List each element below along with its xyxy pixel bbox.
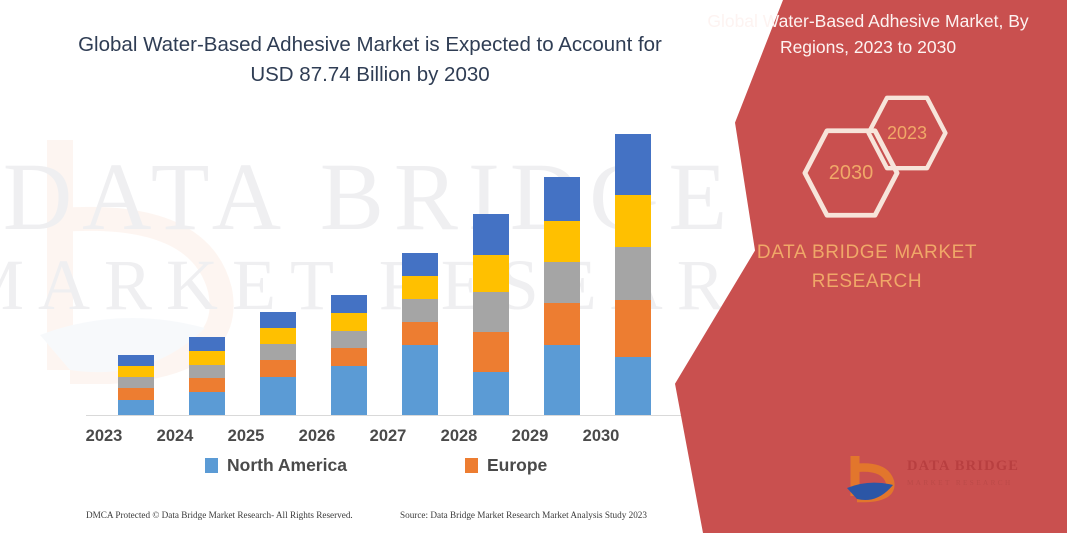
bar-segment-2025-europe	[260, 360, 296, 377]
bar-segment-2028-north-america	[473, 372, 509, 415]
bar-segment-2028-series-5	[473, 214, 509, 255]
chart-legend: North AmericaEurope	[100, 455, 680, 481]
bar-segment-2024-europe	[189, 378, 225, 392]
bar-2025	[260, 312, 296, 415]
bar-segment-2025-series-5	[260, 312, 296, 328]
x-axis-label-2025: 2025	[216, 427, 276, 446]
bar-2024	[189, 337, 225, 415]
x-axis-label-2026: 2026	[287, 427, 347, 446]
bar-segment-2029-series-4	[544, 221, 580, 262]
bar-segment-2030-series-3	[615, 247, 651, 300]
bar-segment-2023-series-5	[118, 355, 154, 366]
bar-segment-2024-series-3	[189, 365, 225, 378]
x-axis-label-2023: 2023	[74, 427, 134, 446]
bar-segment-2030-series-5	[615, 134, 651, 195]
legend-swatch-icon	[205, 458, 218, 473]
footer-source-text: Source: Data Bridge Market Research Mark…	[400, 510, 647, 520]
bar-segment-2027-series-3	[402, 299, 438, 322]
bar-segment-2028-series-4	[473, 255, 509, 292]
bar-segment-2025-series-4	[260, 328, 296, 344]
x-axis-label-2029: 2029	[500, 427, 560, 446]
bar-2023	[118, 355, 154, 415]
legend-label: Europe	[487, 455, 547, 476]
bar-segment-2026-series-4	[331, 313, 367, 331]
hexagon-badge-2023-label: 2023	[867, 93, 947, 173]
bar-segment-2026-europe	[331, 348, 367, 366]
bar-segment-2024-north-america	[189, 392, 225, 415]
bar-segment-2029-series-5	[544, 177, 580, 221]
bar-segment-2024-series-5	[189, 337, 225, 351]
bar-segment-2030-series-4	[615, 195, 651, 247]
bar-segment-2026-series-3	[331, 331, 367, 348]
bar-2029	[544, 177, 580, 415]
x-axis-label-2028: 2028	[429, 427, 489, 446]
bar-segment-2026-north-america	[331, 366, 367, 415]
bar-segment-2029-north-america	[544, 345, 580, 415]
bar-segment-2027-series-5	[402, 253, 438, 276]
bar-segment-2029-series-3	[544, 262, 580, 303]
data-bridge-logo-text: DATA BRIDGE MARKET RESEARCH	[907, 458, 1047, 487]
x-axis-labels: 20232024202520262027202820292030	[86, 427, 690, 451]
hexagon-badge-2030: 2030	[803, 125, 899, 221]
bar-2028	[473, 214, 509, 415]
bar-segment-2029-europe	[544, 303, 580, 345]
bar-segment-2023-europe	[118, 388, 154, 400]
bar-segment-2028-europe	[473, 332, 509, 372]
bar-segment-2023-series-4	[118, 366, 154, 377]
bar-segment-2027-north-america	[402, 345, 438, 415]
x-axis-label-2024: 2024	[145, 427, 205, 446]
bar-segment-2023-north-america	[118, 400, 154, 415]
legend-item-north-america: North America	[205, 455, 347, 476]
plot-area: 20232024202520262027202820292030	[0, 0, 760, 533]
legend-item-europe: Europe	[465, 455, 547, 476]
footer: DMCA Protected © Data Bridge Market Rese…	[0, 507, 720, 529]
axis-baseline	[86, 415, 686, 416]
bar-segment-2023-series-3	[118, 377, 154, 388]
bar-segment-2027-series-4	[402, 276, 438, 299]
x-axis-label-2027: 2027	[358, 427, 418, 446]
bar-2026	[331, 295, 367, 415]
data-bridge-logo: DATA BRIDGE MARKET RESEARCH	[845, 452, 1045, 510]
bar-segment-2027-europe	[402, 322, 438, 345]
bar-2030	[615, 134, 651, 415]
footer-dmca-text: DMCA Protected © Data Bridge Market Rese…	[86, 510, 353, 520]
bar-segment-2026-series-5	[331, 295, 367, 313]
bar-segment-2024-series-4	[189, 351, 225, 365]
logo-sub-text: MARKET RESEARCH	[907, 479, 1047, 487]
bar-segment-2028-series-3	[473, 292, 509, 332]
infographic-canvas: DATA BRIDGE MARKET RESEARCH Global Water…	[0, 0, 1067, 533]
chart-panel: DATA BRIDGE MARKET RESEARCH Global Water…	[0, 0, 760, 533]
legend-swatch-icon	[465, 458, 478, 473]
bar-segment-2030-north-america	[615, 357, 651, 415]
x-axis-label-2030: 2030	[571, 427, 631, 446]
bar-segment-2025-series-3	[260, 344, 296, 360]
data-bridge-logo-icon	[845, 452, 903, 508]
bar-segment-2025-north-america	[260, 377, 296, 415]
bar-2027	[402, 253, 438, 415]
legend-label: North America	[227, 455, 347, 476]
hexagon-badge-2030-label: 2030	[803, 125, 899, 221]
bar-segment-2030-europe	[615, 300, 651, 357]
logo-main-text: DATA BRIDGE	[907, 458, 1047, 475]
hexagon-badge-2023: 2023	[867, 93, 947, 173]
